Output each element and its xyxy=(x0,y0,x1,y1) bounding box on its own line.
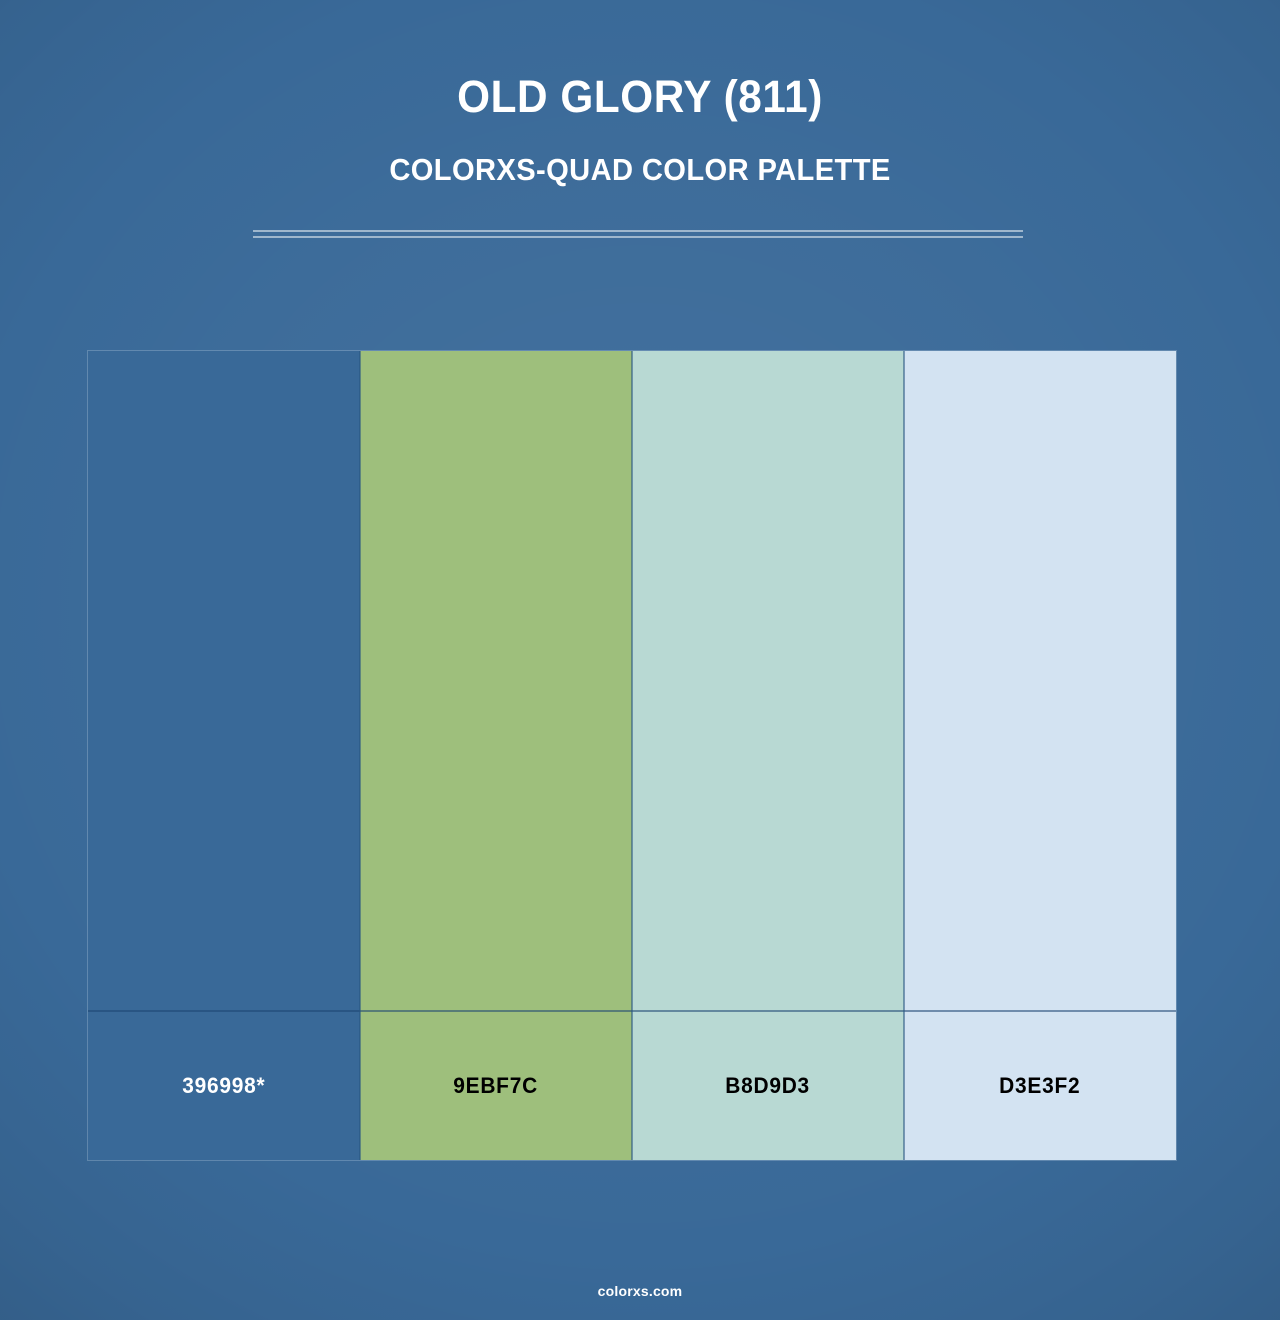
swatch-chip[interactable] xyxy=(904,351,1176,1010)
swatch-label-cell: 396998* xyxy=(88,1010,360,1160)
site-watermark: colorxs.com xyxy=(598,1283,683,1299)
swatch-column[interactable]: 9EBF7C xyxy=(360,351,632,1160)
swatch-label: 396998* xyxy=(182,1073,265,1099)
swatch-chip[interactable] xyxy=(632,351,904,1010)
divider-line-bottom xyxy=(253,236,1023,238)
swatch-column[interactable]: D3E3F2 xyxy=(904,351,1176,1160)
divider-line-top xyxy=(253,230,1023,232)
color-palette: 396998* 9EBF7C B8D9D3 D3E3F2 xyxy=(88,351,1176,1160)
swatch-column[interactable]: 396998* xyxy=(88,351,360,1160)
page-subtitle: COLORXS-QUAD COLOR PALETTE xyxy=(38,119,1241,185)
swatch-column[interactable]: B8D9D3 xyxy=(632,351,904,1160)
swatch-label-cell: B8D9D3 xyxy=(632,1010,904,1160)
swatch-label-cell: 9EBF7C xyxy=(360,1010,632,1160)
swatch-label: 9EBF7C xyxy=(454,1073,539,1099)
page-footer: colorxs.com xyxy=(0,1283,1280,1301)
palette-page: OLD GLORY (811) COLORXS-QUAD COLOR PALET… xyxy=(0,0,1280,1320)
swatch-label-cell: D3E3F2 xyxy=(904,1010,1176,1160)
swatch-label: B8D9D3 xyxy=(726,1073,811,1099)
page-title: OLD GLORY (811) xyxy=(38,0,1241,119)
swatch-label: D3E3F2 xyxy=(999,1073,1080,1099)
swatch-chip[interactable] xyxy=(360,351,632,1010)
swatch-chip[interactable] xyxy=(88,351,360,1010)
page-header: OLD GLORY (811) COLORXS-QUAD COLOR PALET… xyxy=(0,0,1280,185)
header-divider xyxy=(253,230,1023,239)
